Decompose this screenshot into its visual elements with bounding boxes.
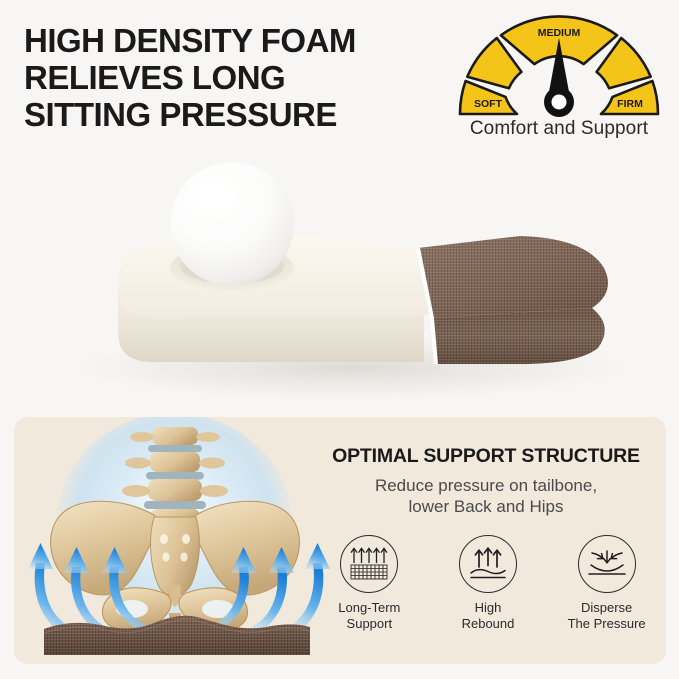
feature-disperse-pressure: Disperse The Pressure xyxy=(555,535,659,631)
gauge-label-soft: SOFT xyxy=(474,98,503,110)
fabric-side-texture xyxy=(432,308,605,364)
gauge-icon: SOFT MEDIUM FIRM xyxy=(452,14,666,120)
pressure-ball xyxy=(170,162,294,286)
feature-long-term-support: Long-Term Support xyxy=(317,535,421,631)
disperse-pressure-icon xyxy=(578,535,636,593)
gauge-caption: Comfort and Support xyxy=(452,118,666,140)
panel-subtitle-line-1: Reduce pressure on tailbone, xyxy=(375,476,597,495)
panel-subtitle-line-2: lower Back and Hips xyxy=(409,497,564,516)
pelvis-cushion-diagram xyxy=(14,417,344,664)
rebound-arrows-icon xyxy=(459,535,517,593)
infographic-page: HIGH DENSITY FOAM RELIEVES LONG SITTING … xyxy=(0,0,679,679)
cushion-product-illustration xyxy=(0,140,679,405)
feature-label-line-1: Disperse xyxy=(581,600,632,615)
product-hero-image xyxy=(0,140,679,405)
feature-high-rebound: High Rebound xyxy=(436,535,540,631)
feature-label-line-2: Support xyxy=(347,616,393,631)
panel-title: OPTIMAL SUPPORT STRUCTURE xyxy=(306,445,666,468)
feature-label-line-1: Long-Term xyxy=(338,600,400,615)
fabric-top-texture xyxy=(418,236,608,318)
feature-list: Long-Term Support xyxy=(310,535,666,631)
feature-label-long-term-support: Long-Term Support xyxy=(317,600,421,631)
pelvis-illustration xyxy=(14,417,344,664)
feature-label-line-2: Rebound xyxy=(462,616,515,631)
feature-label-high-rebound: High Rebound xyxy=(436,600,540,631)
feature-label-line-1: High xyxy=(475,600,502,615)
feature-label-line-2: The Pressure xyxy=(568,616,646,631)
gauge-label-firm: FIRM xyxy=(617,98,643,110)
support-structure-panel: OPTIMAL SUPPORT STRUCTURE Reduce pressur… xyxy=(14,417,666,664)
firmness-gauge: SOFT MEDIUM FIRM Comfort and Support xyxy=(452,14,666,148)
panel-copy: OPTIMAL SUPPORT STRUCTURE Reduce pressur… xyxy=(306,445,666,517)
gauge-label-medium: MEDIUM xyxy=(538,27,581,39)
page-title: HIGH DENSITY FOAM RELIEVES LONG SITTING … xyxy=(24,22,454,133)
ball-highlight xyxy=(184,181,236,215)
headline-line-3: SITTING PRESSURE xyxy=(24,96,454,133)
grid-upward-arrows-icon xyxy=(340,535,398,593)
feature-label-disperse-pressure: Disperse The Pressure xyxy=(555,600,659,631)
headline-line-1: HIGH DENSITY FOAM xyxy=(24,22,454,59)
panel-subtitle: Reduce pressure on tailbone, lower Back … xyxy=(306,475,666,517)
headline-line-2: RELIEVES LONG xyxy=(24,59,454,96)
